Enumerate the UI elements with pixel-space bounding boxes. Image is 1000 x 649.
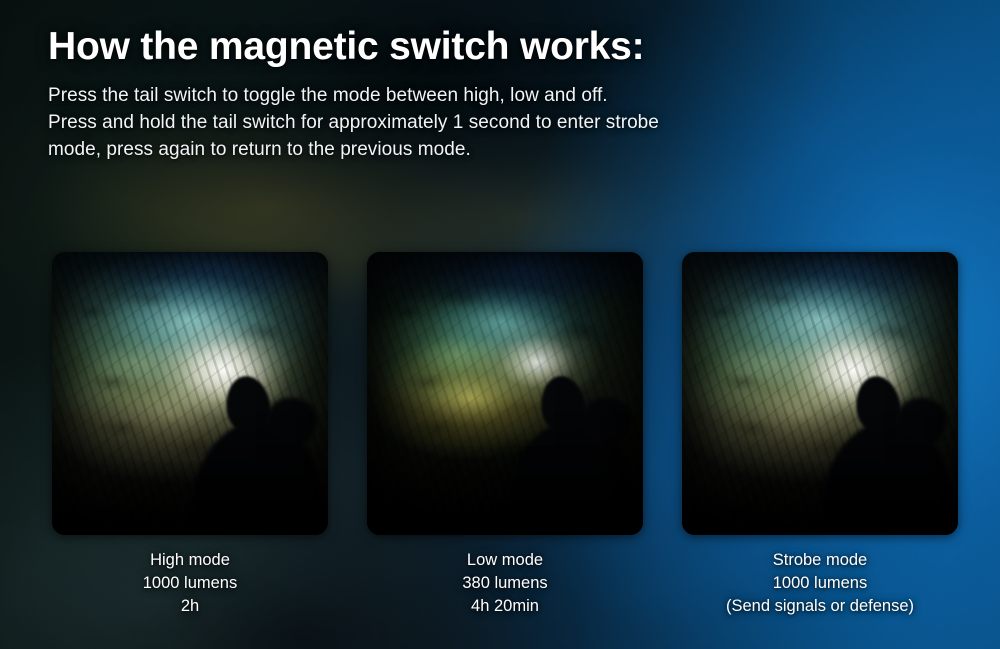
caption-high-mode: High mode 1000 lumens 2h [143, 549, 237, 618]
caption-lumens-value: 1000 lumens [726, 572, 914, 595]
caption-runtime-value: 2h [143, 595, 237, 618]
caption-mode-label: Low mode [462, 549, 547, 572]
mode-panel-high: High mode 1000 lumens 2h [52, 252, 328, 618]
caption-strobe-mode: Strobe mode 1000 lumens (Send signals or… [726, 549, 914, 618]
mode-panel-strobe: Strobe mode 1000 lumens (Send signals or… [682, 252, 958, 618]
caption-mode-label: High mode [143, 549, 237, 572]
photo-high-mode [52, 252, 328, 535]
slide-root: How the magnetic switch works: Press the… [0, 0, 1000, 649]
photo-vignette [52, 252, 328, 535]
photo-low-mode [367, 252, 643, 535]
header-block: How the magnetic switch works: Press the… [48, 26, 868, 163]
caption-lumens-value: 1000 lumens [143, 572, 237, 595]
page-title: How the magnetic switch works: [48, 26, 868, 68]
mode-panel-low: Low mode 380 lumens 4h 20min [367, 252, 643, 618]
caption-mode-label: Strobe mode [726, 549, 914, 572]
instruction-line-3: mode, press again to return to the previ… [48, 136, 868, 163]
caption-runtime-value: (Send signals or defense) [726, 595, 914, 618]
caption-low-mode: Low mode 380 lumens 4h 20min [462, 549, 547, 618]
instruction-line-1: Press the tail switch to toggle the mode… [48, 82, 868, 109]
mode-panels-row: High mode 1000 lumens 2h [52, 252, 958, 618]
photo-strobe-mode [682, 252, 958, 535]
instructions-paragraph: Press the tail switch to toggle the mode… [48, 82, 868, 163]
photo-vignette [367, 252, 643, 535]
caption-lumens-value: 380 lumens [462, 572, 547, 595]
caption-runtime-value: 4h 20min [462, 595, 547, 618]
instruction-line-2: Press and hold the tail switch for appro… [48, 109, 868, 136]
photo-vignette [682, 252, 958, 535]
